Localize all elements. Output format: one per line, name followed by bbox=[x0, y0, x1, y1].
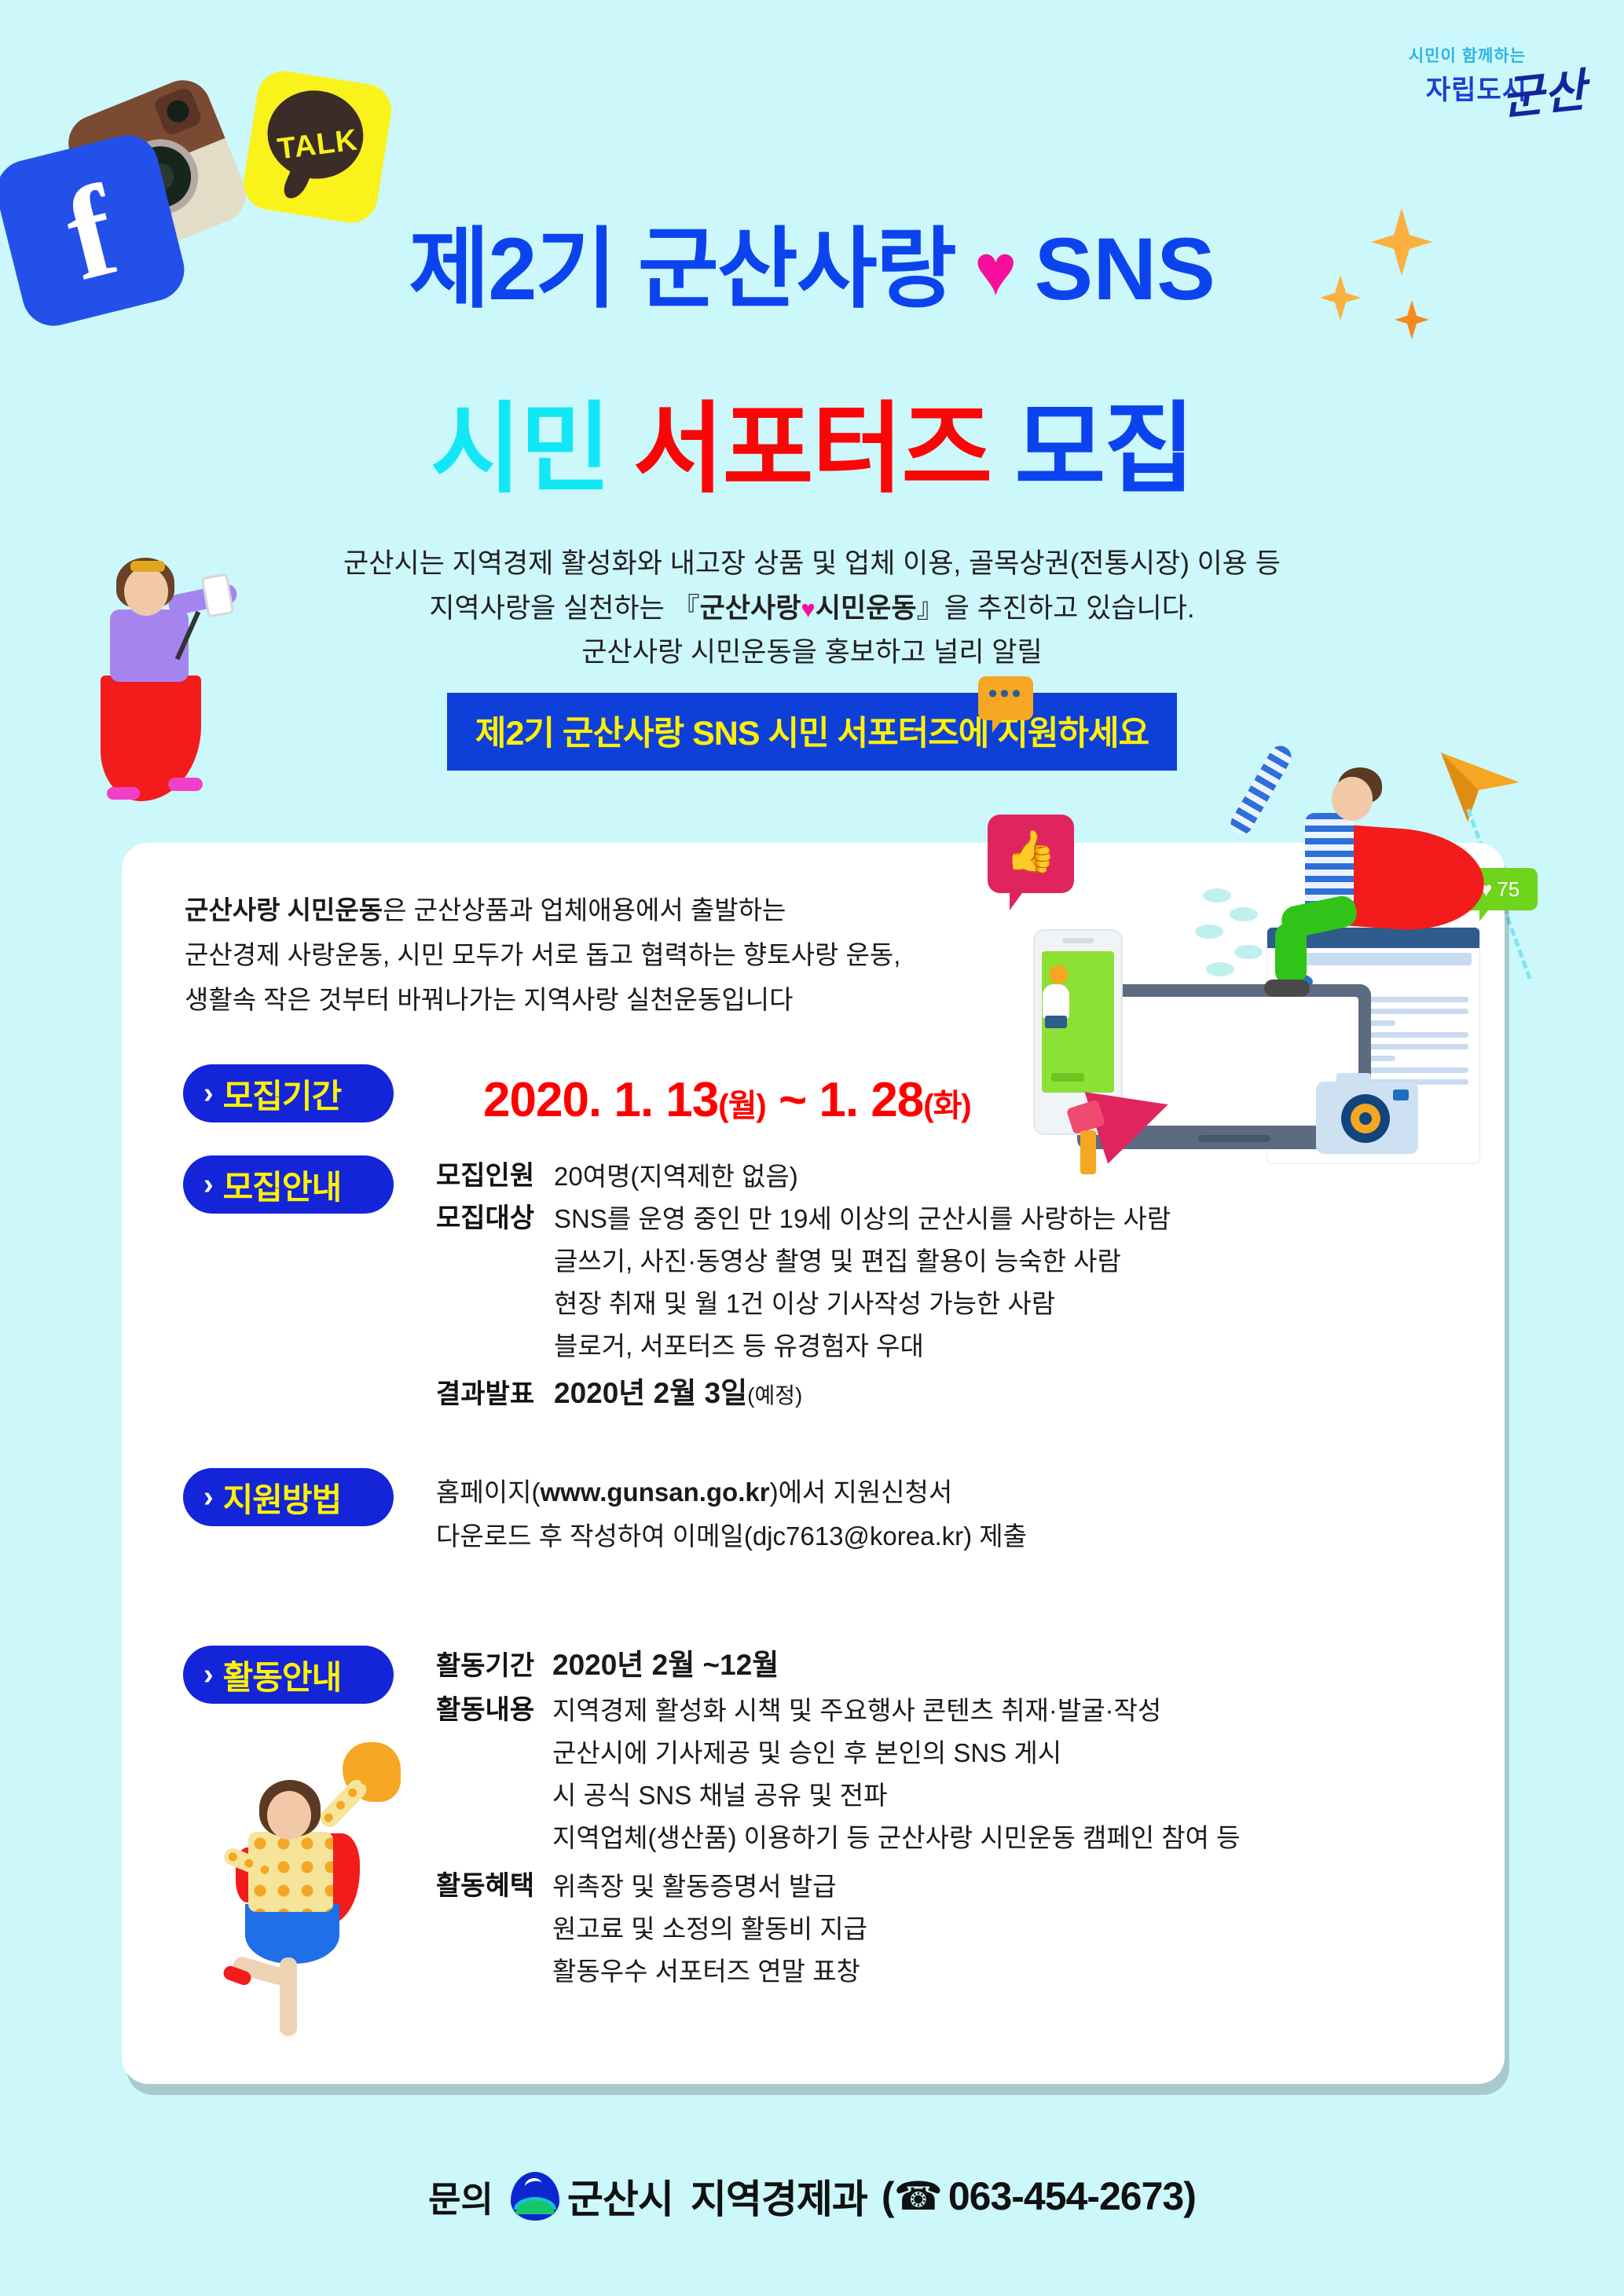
logo-mark-gunsan: 군산 bbox=[1498, 53, 1589, 128]
like-count-value: 75 bbox=[1497, 877, 1520, 902]
pill-apply-method[interactable]: › 지원방법 bbox=[183, 1468, 394, 1526]
pill-label-apply: 지원방법 bbox=[223, 1474, 342, 1522]
cheerleader-illustration bbox=[196, 1736, 401, 2050]
apply-line-2: 다운로드 후 작성하여 이메일(djc7613@korea.kr) 제출 bbox=[436, 1515, 1027, 1553]
row-value-target-4: 블로거, 서포터즈 등 유경험자 우대 bbox=[554, 1325, 924, 1363]
result-date: 2020년 2월 3일 bbox=[554, 1377, 747, 1409]
chevron-right-icon: › bbox=[203, 1482, 214, 1512]
pill-label-recruit: 모집안내 bbox=[223, 1161, 342, 1209]
social-media-illustration: ••• 👍 ♥ 75 BL bbox=[1008, 749, 1511, 1188]
activity-benefit-2: 원고료 및 소정의 활동비 지급 bbox=[552, 1908, 867, 1946]
row-label-duration: 활동기간 bbox=[436, 1644, 534, 1683]
row-label-result: 결과발표 bbox=[436, 1372, 534, 1411]
headline-sns: SNS bbox=[1034, 220, 1215, 318]
card-description: 군산사랑 시민운동은 군산상품과 업체애용에서 출발하는 군산경제 사랑운동, … bbox=[185, 888, 1033, 1022]
row-value-result: 2020년 2월 3일(예정) bbox=[554, 1369, 802, 1412]
sparkle-icon-small bbox=[1320, 275, 1361, 320]
sparkle-icon-large bbox=[1371, 208, 1432, 276]
intro-line-1: 군산시는 지역경제 활성화와 내고장 상품 및 업체 이용, 골목상권(전통시장… bbox=[0, 542, 1624, 587]
pill-label-period: 모집기간 bbox=[223, 1070, 342, 1118]
period-main: 2020. 1. 13 bbox=[483, 1073, 718, 1127]
footer-contact: 문의 군산시지역경제과(☎063-454-2673) bbox=[0, 2168, 1624, 2225]
pill-recruit-period[interactable]: › 모집기간 bbox=[183, 1064, 394, 1122]
recruit-period-value: 2020. 1. 13(월) ~ 1. 28(화) bbox=[483, 1072, 971, 1128]
camera-icon bbox=[1316, 1082, 1418, 1154]
intro-line-3: 군산사랑 시민운동을 홍보하고 널리 알릴 bbox=[0, 631, 1624, 676]
row-label-target: 모집대상 bbox=[436, 1196, 534, 1235]
logo-tagline: 시민이 함께하는 bbox=[1329, 43, 1526, 67]
period-tilde: ~ 1. 28 bbox=[766, 1073, 924, 1127]
row-value-target-3: 현장 취재 및 월 1건 이상 기사작성 가능한 사람 bbox=[554, 1283, 1055, 1320]
activity-content-3: 시 공식 SNS 채널 공유 및 전파 bbox=[552, 1774, 887, 1812]
apply-email-address[interactable]: djc7613@korea.kr bbox=[753, 1522, 963, 1551]
intro-line2-pre: 지역사랑을 실천하는 『 bbox=[429, 593, 699, 624]
phone-icon: ☎ bbox=[894, 2174, 942, 2218]
pill-recruit-info[interactable]: › 모집안내 bbox=[183, 1155, 394, 1214]
row-value-duration: 2020년 2월 ~12월 bbox=[552, 1641, 779, 1683]
footer-ask-label: 문의 bbox=[428, 2180, 493, 2220]
row-label-benefit: 활동혜택 bbox=[436, 1864, 534, 1902]
city-logo: 시민이 함께하는 자립도시 군산 bbox=[1329, 43, 1589, 126]
period-paren-2: (화) bbox=[923, 1089, 970, 1123]
footer-dept: 지역경제과 bbox=[691, 2177, 867, 2221]
footer-phone-number[interactable]: 063-454-2673 bbox=[948, 2174, 1183, 2218]
apply2-post: ) 제출 bbox=[963, 1522, 1027, 1551]
pill-label-activity: 활동안내 bbox=[223, 1651, 342, 1699]
intro-block: 군산시는 지역경제 활성화와 내고장 상품 및 업체 이용, 골목상권(전통시장… bbox=[0, 542, 1624, 771]
thumbs-up-bubble-icon: 👍 bbox=[988, 815, 1074, 893]
headline-simin: 시민 bbox=[431, 394, 610, 504]
period-paren-1: (월) bbox=[718, 1089, 765, 1123]
card-desc-line2: 군산경제 사랑운동, 시민 모두가 서로 돕고 협력하는 향토사랑 운동, bbox=[185, 940, 900, 969]
activity-benefit-3: 활동우수 서포터즈 연말 표창 bbox=[552, 1950, 860, 1988]
card-desc-rest: 은 군산상품과 업체애용에서 출발하는 bbox=[383, 895, 786, 925]
activity-benefit-1: 위촉장 및 활동증명서 발급 bbox=[552, 1866, 836, 1903]
headline-line1-text: 제2기 군산사랑 bbox=[409, 220, 955, 318]
pill-activity-info[interactable]: › 활동안내 bbox=[183, 1646, 394, 1704]
footer-paren-open: ( bbox=[882, 2174, 894, 2218]
apply-post: )에서 지원신청서 bbox=[770, 1478, 953, 1507]
intro-bold-gunsanlove: 군산사랑 bbox=[700, 593, 801, 624]
activity-content-2: 군산시에 기사제공 및 승인 후 본인의 SNS 게시 bbox=[552, 1732, 1061, 1770]
apply-pre: 홈페이지( bbox=[436, 1478, 540, 1507]
hand-cursor-icon bbox=[1043, 984, 1069, 1019]
logo-subtitle: 자립도시 bbox=[1329, 68, 1527, 107]
gunsan-city-emblem-icon bbox=[511, 2172, 559, 2221]
card-desc-line3: 생활속 작은 것부터 바꿔나가는 지역사랑 실천운동입니다 bbox=[185, 985, 793, 1014]
dots-bubble-icon: ••• bbox=[978, 676, 1033, 720]
chevron-right-icon: › bbox=[203, 1170, 214, 1199]
activity-content-1: 지역경제 활성화 시책 및 주요행사 콘텐츠 취재·발굴·작성 bbox=[552, 1690, 1161, 1727]
row-value-target-1: SNS를 운영 중인 만 19세 이상의 군산시를 사랑하는 사람 bbox=[554, 1198, 1171, 1236]
footer-paren-close: ) bbox=[1183, 2174, 1196, 2218]
headline-line-2: 시민서포터즈모집 bbox=[0, 369, 1624, 512]
superhero-figure bbox=[1241, 744, 1476, 1003]
chevron-right-icon: › bbox=[203, 1660, 214, 1690]
apply-line-1: 홈페이지(www.gunsan.go.kr)에서 지원신청서 bbox=[436, 1471, 952, 1509]
headline-supporters: 서포터즈 bbox=[633, 394, 992, 504]
chevron-right-icon: › bbox=[203, 1078, 214, 1108]
intro-line-2: 지역사랑을 실천하는 『군산사랑♥시민운동』을 추진하고 있습니다. bbox=[0, 587, 1624, 632]
result-note: (예정) bbox=[747, 1383, 802, 1408]
heart-icon: ♥ bbox=[974, 230, 1016, 310]
activity-content-4: 지역업체(생산품) 이용하기 등 군산사랑 시민운동 캠페인 참여 등 bbox=[552, 1817, 1241, 1855]
row-value-target-2: 글쓰기, 사진·동영상 촬영 및 편집 활용이 능숙한 사람 bbox=[554, 1240, 1121, 1278]
row-label-headcount: 모집인원 bbox=[436, 1154, 534, 1192]
headline-mojip: 모집 bbox=[1014, 394, 1193, 504]
row-label-content: 활동내용 bbox=[436, 1688, 534, 1727]
pink-heart-icon: ♥ bbox=[801, 595, 815, 623]
sparkle-icon-tiny bbox=[1395, 300, 1429, 339]
footer-org: 군산시 bbox=[567, 2177, 673, 2221]
row-value-headcount: 20여명(지역제한 없음) bbox=[554, 1155, 798, 1193]
intro-line2-post: 』을 추진하고 있습니다. bbox=[917, 593, 1195, 624]
card-desc-bold: 군산사랑 시민운동 bbox=[185, 895, 383, 925]
thumbs-up-icon: 👍 bbox=[1006, 828, 1057, 876]
intro-bold-citizen-movement: 시민운동 bbox=[816, 593, 917, 624]
apply2-pre: 다운로드 후 작성하여 이메일( bbox=[436, 1522, 753, 1551]
apply-website-url[interactable]: www.gunsan.go.kr bbox=[540, 1478, 769, 1507]
